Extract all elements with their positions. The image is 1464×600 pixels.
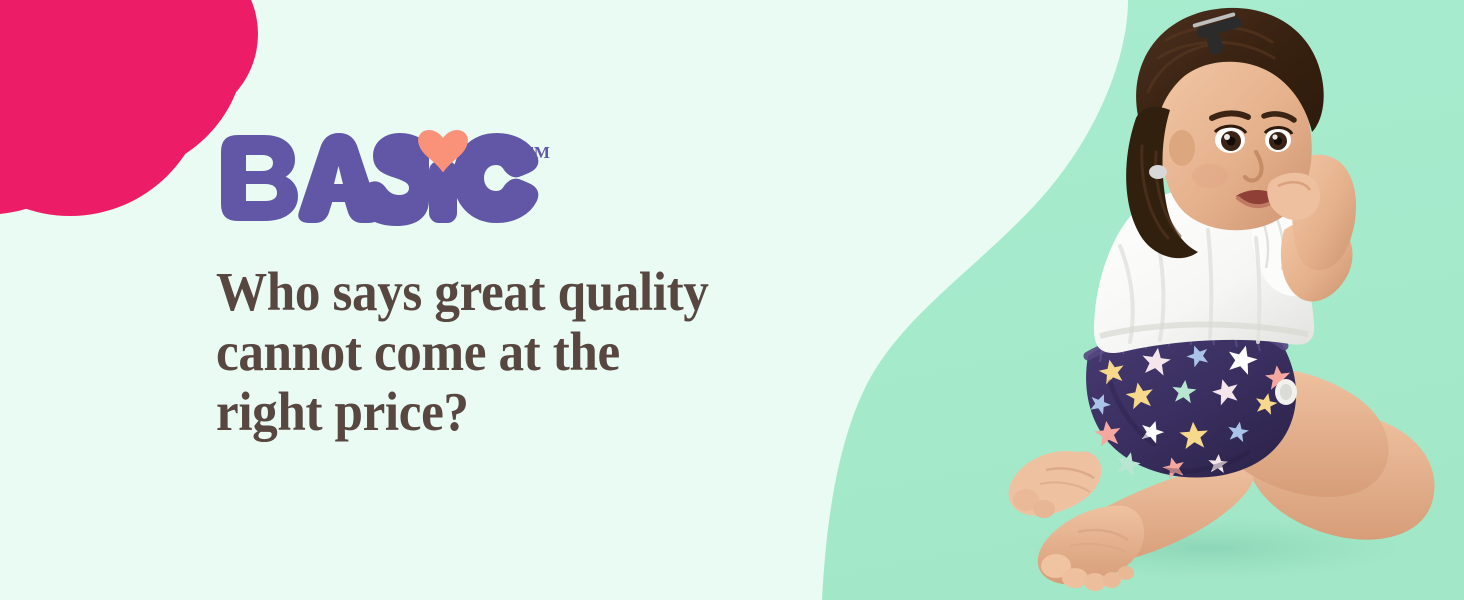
toddler-illustration	[960, 0, 1464, 600]
logo-letter-i	[432, 164, 454, 220]
back-foot	[1009, 451, 1102, 518]
basic-logo-wordmark	[216, 128, 546, 224]
basic-logo: TM	[216, 128, 546, 224]
hair-clip-small	[1149, 165, 1167, 179]
toddler-wearing-cloth-diaper-photo	[960, 0, 1464, 600]
headline-line-2: cannot come at the	[216, 322, 811, 382]
trademark-symbol: TM	[522, 144, 550, 161]
promo-banner: TM Who says great quality cannot come at…	[0, 0, 1464, 600]
near-foot	[1038, 506, 1144, 591]
headline-line-3: right price?	[216, 382, 811, 442]
ear	[1169, 130, 1195, 166]
headline: Who says great quality cannot come at th…	[216, 262, 811, 442]
logo-letter-b	[224, 138, 295, 218]
headline-line-1: Who says great quality	[216, 262, 811, 322]
